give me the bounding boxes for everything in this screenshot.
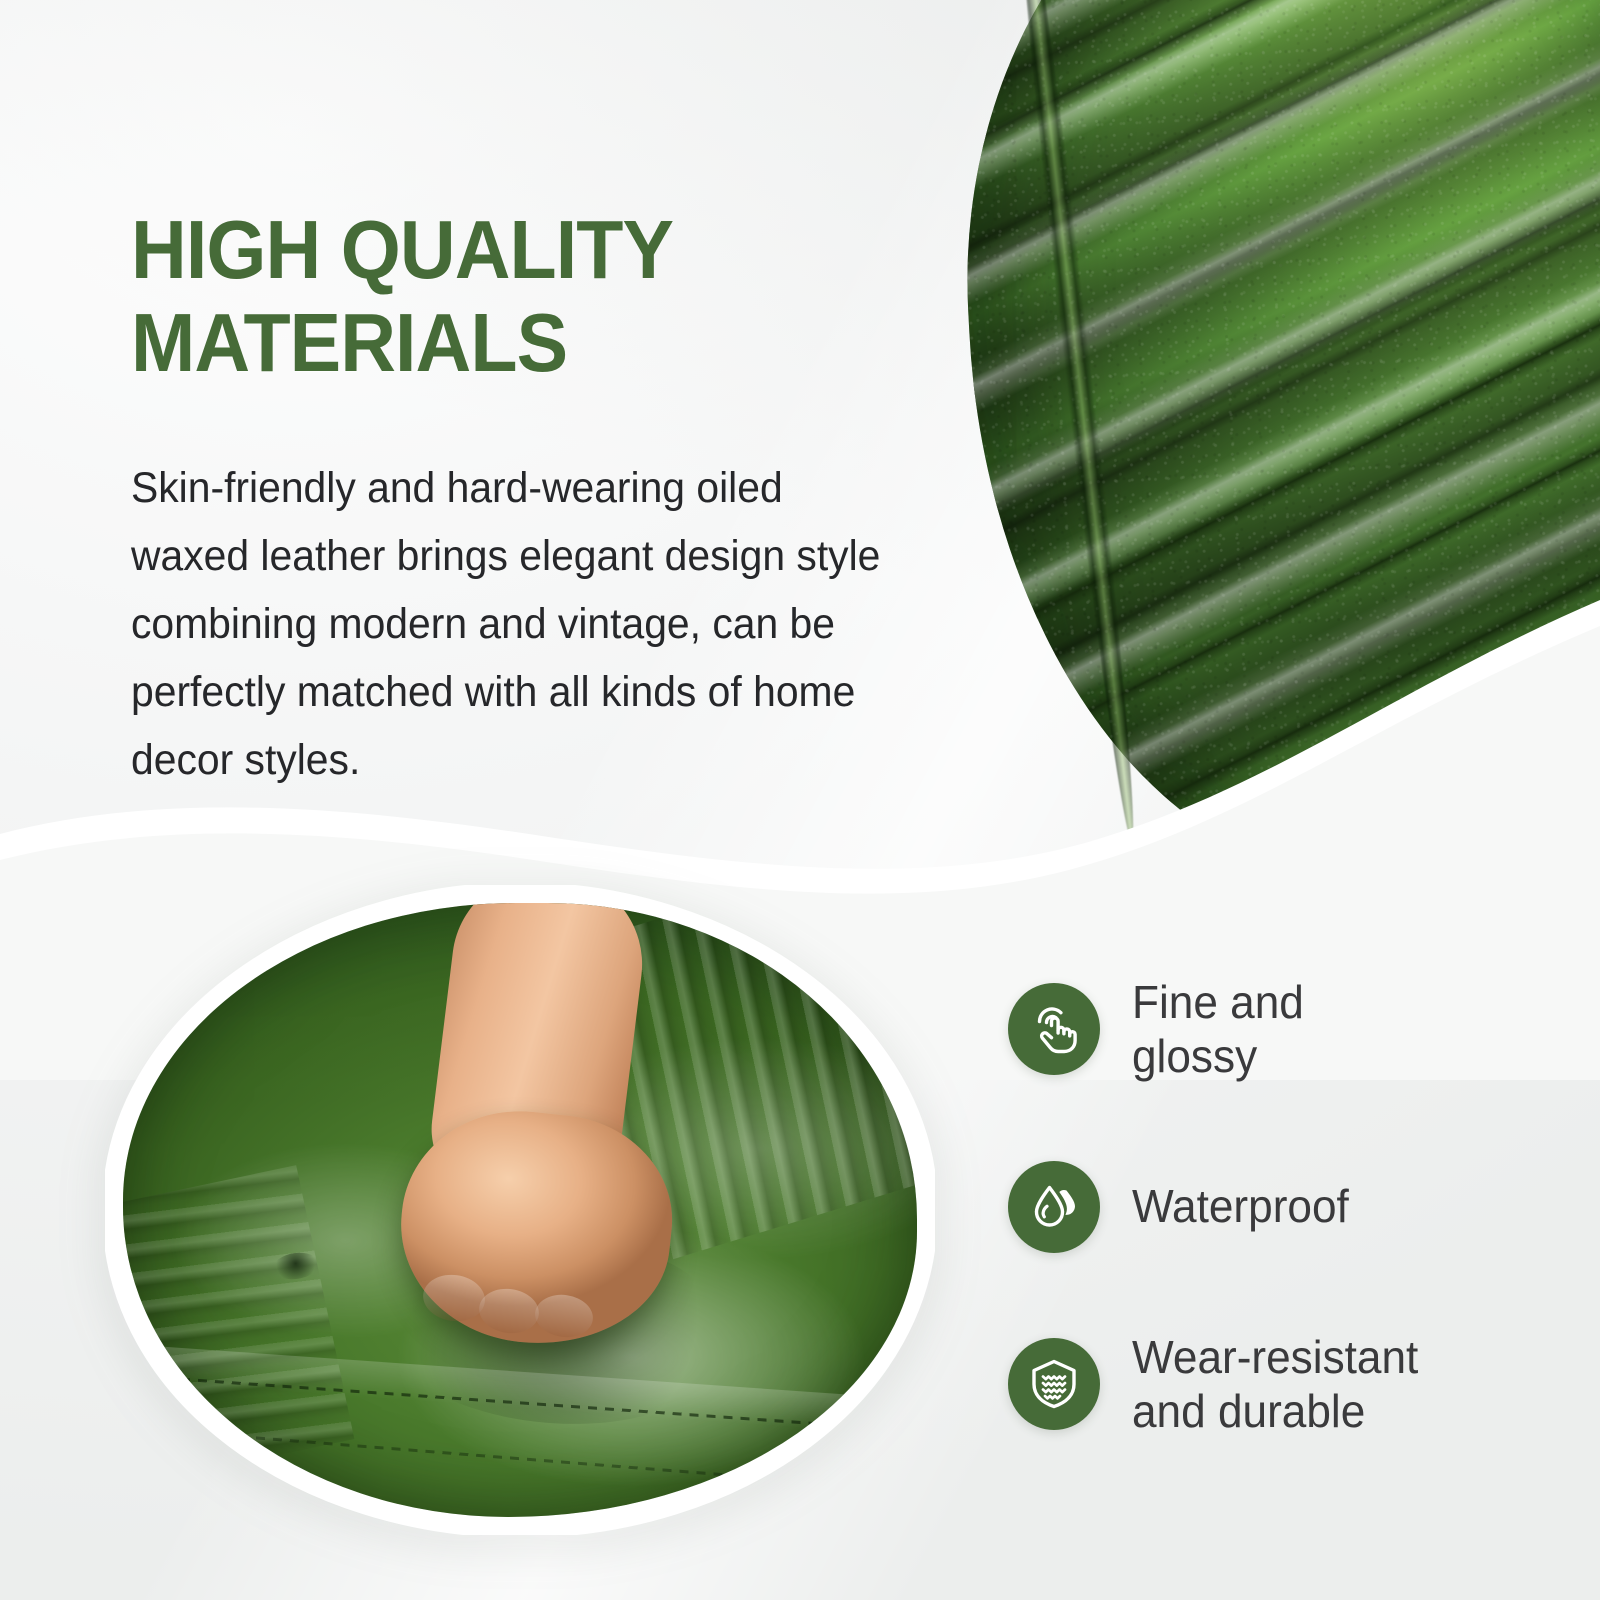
page-title: HIGH QUALITY MATERIALS [131, 204, 838, 390]
shield-waves-icon [1008, 1338, 1100, 1430]
feature-list: Fine and glossy Waterproof [1008, 975, 1568, 1515]
headline-line-2: MATERIALS [131, 297, 838, 390]
feature-label: Waterproof [1132, 1179, 1349, 1233]
tap-gesture-icon [1008, 983, 1100, 1075]
feature-item-wear-resistant: Wear-resistant and durable [1008, 1330, 1568, 1439]
water-drop-icon [1008, 1161, 1100, 1253]
feature-label: Fine and glossy [1132, 975, 1304, 1084]
headline-line-1: HIGH QUALITY [131, 203, 673, 296]
feature-item-waterproof: Waterproof [1008, 1161, 1568, 1253]
cushion-photo [123, 903, 917, 1517]
feature-label: Wear-resistant and durable [1132, 1330, 1418, 1439]
feature-item-fine-and-glossy: Fine and glossy [1008, 975, 1568, 1084]
marketing-banner: HIGH QUALITY MATERIALS Skin-friendly and… [0, 0, 1600, 1600]
cushion-press-inset [105, 885, 935, 1535]
description-paragraph: Skin-friendly and hard-wearing oiled wax… [131, 455, 882, 795]
